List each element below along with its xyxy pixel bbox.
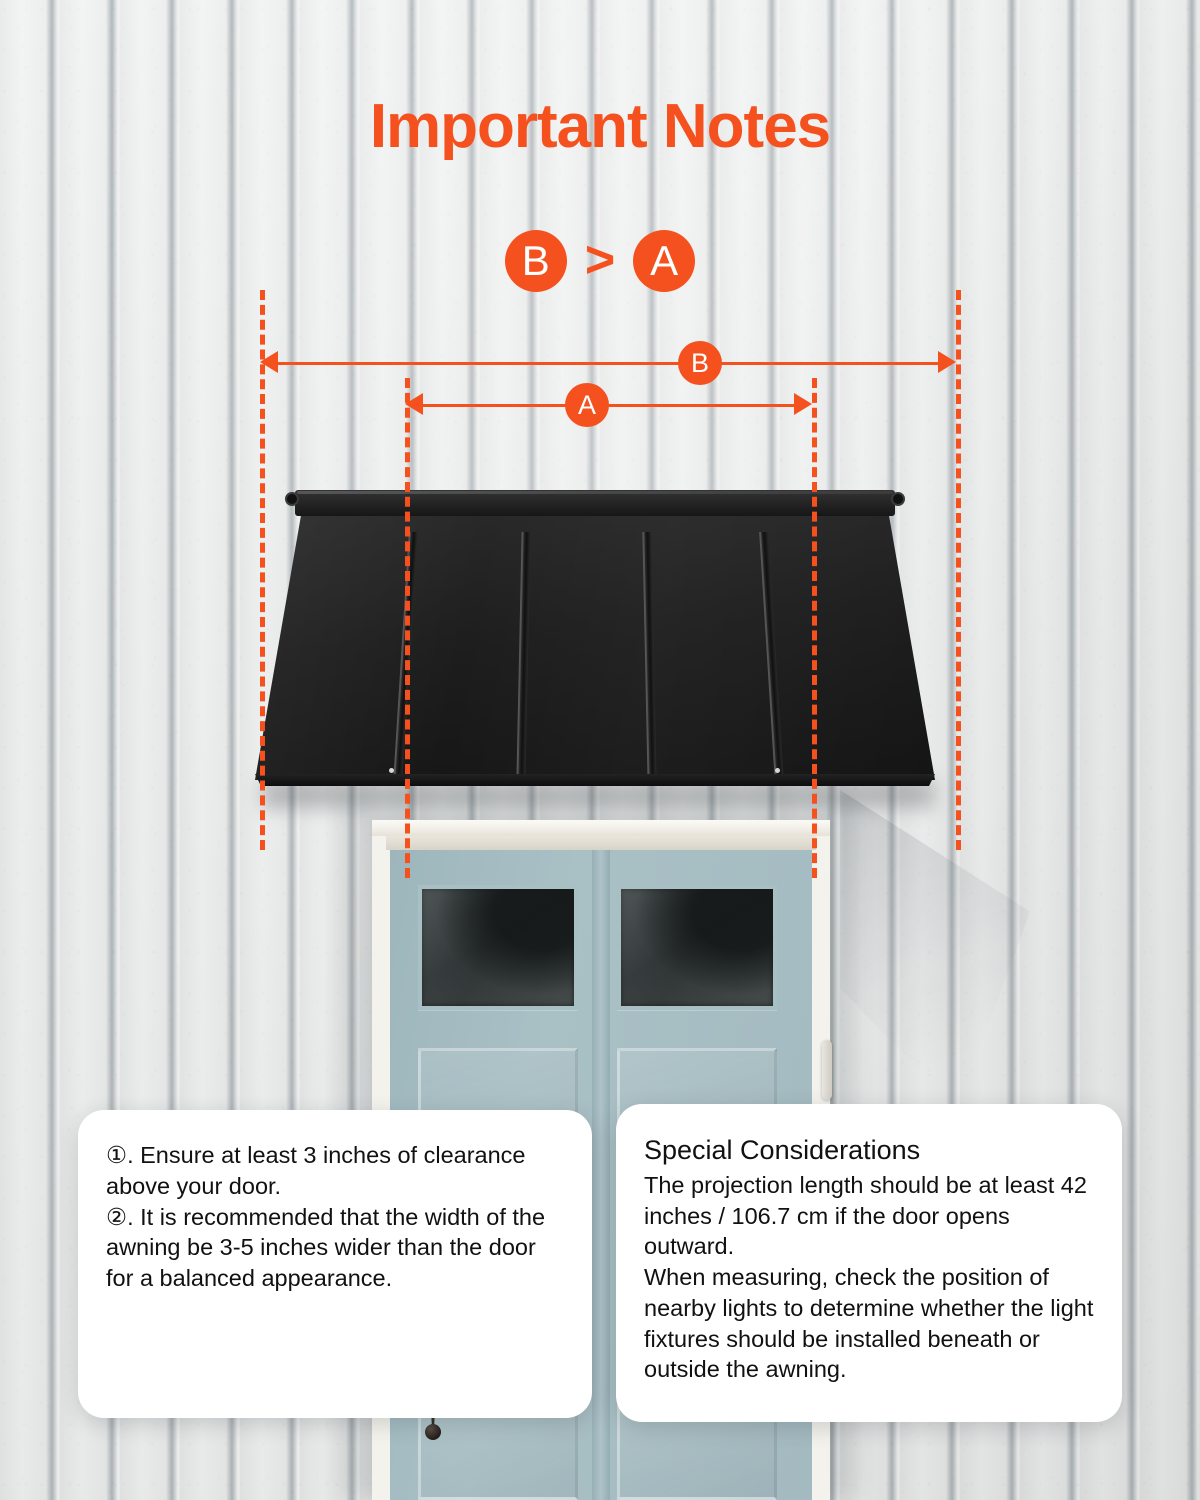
considerations-card: Special Considerations The projection le… bbox=[616, 1104, 1122, 1422]
awning-bolt bbox=[775, 768, 780, 773]
awning-front-lip bbox=[255, 774, 935, 786]
knocker-knob bbox=[425, 1424, 441, 1440]
door-glass-pane-right bbox=[617, 885, 777, 1010]
awning-rail-end-cap bbox=[285, 492, 299, 506]
awning-bolt bbox=[389, 768, 394, 773]
arrow-head-right-icon bbox=[938, 351, 956, 373]
note-item-2: ②. It is recommended that the width of t… bbox=[106, 1202, 566, 1294]
dimension-guide-b-right bbox=[956, 290, 961, 850]
dimension-label-a: A bbox=[565, 383, 609, 427]
consideration-paragraph-1: The projection length should be at least… bbox=[644, 1170, 1096, 1262]
door-awning bbox=[255, 488, 935, 788]
consideration-paragraph-2: When measuring, check the position of ne… bbox=[644, 1262, 1096, 1385]
door-frame-header-trim bbox=[372, 820, 830, 836]
arrow-line bbox=[274, 362, 942, 365]
glass-reflection bbox=[422, 889, 574, 1006]
infographic-stage: Important Notes B > A B A ①. Ensure at l… bbox=[0, 0, 1200, 1500]
awning-rail-highlight bbox=[297, 491, 893, 494]
awning-sheen bbox=[255, 504, 935, 784]
door-handle bbox=[822, 1040, 832, 1100]
dimension-guide-a-right bbox=[812, 378, 817, 878]
formula-b-greater-than-a: B > A bbox=[0, 230, 1200, 292]
dimension-arrow-b: B bbox=[260, 343, 956, 383]
door-glass-pane-left bbox=[418, 885, 578, 1010]
dimension-arrow-a: A bbox=[405, 385, 812, 425]
formula-badge-b: B bbox=[505, 230, 567, 292]
awning-rail-end-cap bbox=[891, 492, 905, 506]
awning-canopy bbox=[255, 504, 935, 784]
glass-reflection bbox=[621, 889, 773, 1006]
notes-card: ①. Ensure at least 3 inches of clearance… bbox=[78, 1110, 592, 1418]
arrow-head-right-icon bbox=[794, 393, 812, 415]
dimension-label-b: B bbox=[678, 341, 722, 385]
dimension-guide-a-left bbox=[405, 378, 410, 878]
page-title: Important Notes bbox=[0, 96, 1200, 158]
considerations-heading: Special Considerations bbox=[644, 1134, 1096, 1168]
door-center-mullion bbox=[592, 850, 610, 1500]
greater-than-icon: > bbox=[585, 234, 615, 286]
formula-badge-a: A bbox=[633, 230, 695, 292]
note-item-1: ①. Ensure at least 3 inches of clearance… bbox=[106, 1140, 566, 1202]
door-frame-inner-trim bbox=[386, 836, 816, 850]
